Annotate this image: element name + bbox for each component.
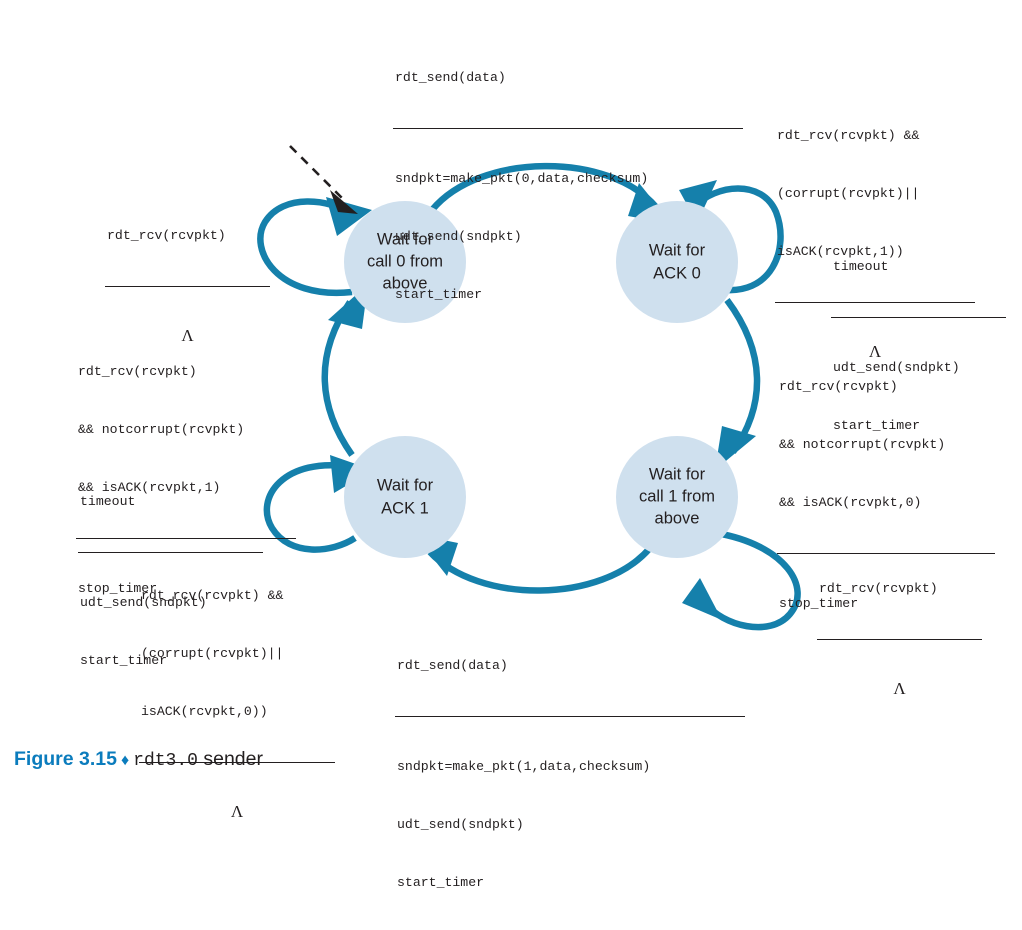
arc-ack1-to-call0	[325, 284, 368, 455]
label-call1-selfloop-den-0: Λ	[817, 679, 982, 699]
figure-caption-mono: rdt3.0	[133, 751, 198, 771]
label-top-send0-num-0: rdt_send(data)	[393, 69, 743, 90]
label-call0-selfloop-num-0: rdt_rcv(rcvpkt)	[105, 227, 270, 248]
label-ack0-timeout-num-0: timeout	[831, 258, 1006, 279]
label-rule	[831, 317, 1006, 318]
label-ack0-to-call1-num-2: && isACK(rcvpkt,0)	[777, 494, 995, 515]
label-rule	[393, 128, 743, 129]
label-ack1-timeout-den-1: start_timer	[78, 650, 263, 671]
label-ack1-to-call0-num-2: && isACK(rcvpkt,1)	[76, 479, 296, 500]
state-wait-ack-1-line-1: ACK 1	[381, 499, 429, 517]
label-bottom-send1: rdt_send(data) sndpkt=make_pkt(1,data,ch…	[395, 620, 745, 930]
state-wait-call-1-line-2: above	[655, 509, 700, 527]
figure-caption-number: Figure 3.15	[14, 748, 117, 770]
label-bottom-send1-den-2: start_timer	[395, 872, 745, 893]
label-ack1-selfloop-den-0: Λ	[139, 802, 335, 822]
label-call1-selfloop: rdt_rcv(rcvpkt) Λ	[817, 543, 982, 736]
arc-call1-to-ack1	[414, 534, 650, 591]
label-rule	[76, 538, 296, 539]
state-wait-call-1[interactable]: Wait for call 1 from above	[616, 436, 738, 558]
label-top-send0-den-2: start_timer	[393, 284, 743, 305]
state-wait-ack-1[interactable]: Wait for ACK 1	[344, 436, 466, 558]
label-rule	[105, 286, 270, 287]
figure-caption: Figure 3.15♦rdt3.0 sender	[14, 748, 263, 771]
label-rule	[817, 639, 982, 640]
state-wait-call-1-line-0: Wait for	[649, 465, 706, 483]
label-ack0-selfloop-num-0: rdt_rcv(rcvpkt) &&	[775, 127, 975, 148]
label-bottom-send1-den-0: sndpkt=make_pkt(1,data,checksum)	[395, 756, 745, 777]
label-ack0-to-call1-num-0: rdt_rcv(rcvpkt)	[777, 378, 995, 399]
label-call1-selfloop-num-0: rdt_rcv(rcvpkt)	[817, 580, 982, 601]
label-ack0-selfloop-num-1: (corrupt(rcvpkt)||	[775, 185, 975, 206]
label-call0-selfloop: rdt_rcv(rcvpkt) Λ	[105, 190, 270, 383]
label-rule	[395, 716, 745, 717]
label-ack1-to-call0-den-0: stop_timer	[76, 578, 296, 599]
label-top-send0: rdt_send(data) sndpkt=make_pkt(0,data,ch…	[393, 32, 743, 342]
label-top-send0-den-0: sndpkt=make_pkt(0,data,checksum)	[393, 168, 743, 189]
label-ack1-to-call0-num-1: && notcorrupt(rcvpkt)	[76, 421, 296, 442]
label-ack0-to-call1-num-1: && notcorrupt(rcvpkt)	[777, 436, 995, 457]
state-wait-ack-1-line-0: Wait for	[377, 476, 434, 494]
figure-caption-rest: sender	[198, 748, 263, 770]
label-bottom-send1-den-1: udt_send(sndpkt)	[395, 814, 745, 835]
label-top-send0-den-1: udt_send(sndpkt)	[393, 226, 743, 247]
label-call0-selfloop-den-0: Λ	[105, 326, 270, 346]
figure-rdt30-sender: Wait for call 0 from above Wait for ACK …	[0, 0, 1022, 791]
state-wait-call-1-line-1: call 1 from	[639, 487, 715, 505]
diamond-icon: ♦	[117, 752, 133, 769]
label-bottom-send1-num-0: rdt_send(data)	[395, 657, 745, 678]
